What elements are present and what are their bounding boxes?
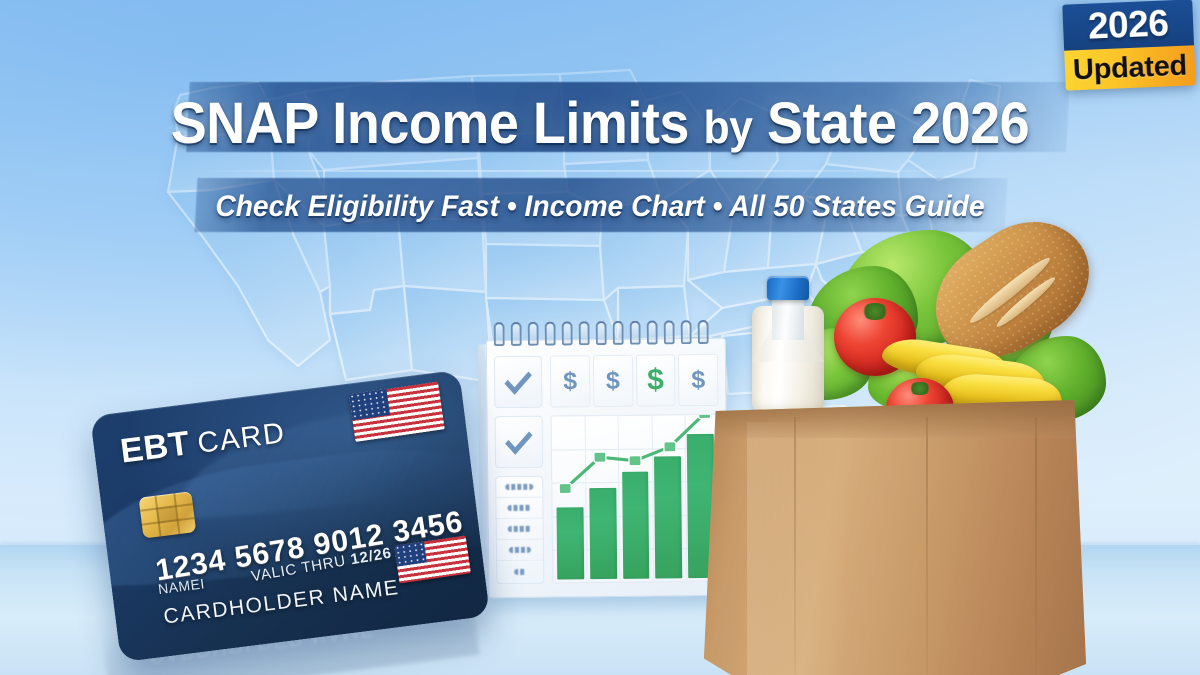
card-chip-icon [139,491,197,538]
list-item [496,498,542,519]
dollar-cell: $ [550,355,590,407]
checkbox-row-2[interactable] [495,416,544,468]
list-item [496,477,542,498]
check-mark-icon [504,364,531,395]
ebt-card[interactable]: EBTCARD 1234 5678 9012 3456 NAMEI VALIC … [90,370,490,663]
badge-year-label: 2026 [1087,2,1169,47]
dollar-cell: $ [593,355,633,407]
checkbox-row-1[interactable] [494,356,543,408]
paper-grocery-bag [700,400,1090,675]
page-title-by: by [703,101,752,153]
badge-status-label: Updated [1072,49,1187,87]
list-item [497,561,543,582]
banner-divider [196,170,986,172]
notepad-list-rows [495,476,544,584]
list-item [497,519,543,540]
dollar-cell-highlighted: $ [635,354,675,406]
page-title-part2: State 2026 [752,91,1029,156]
page-title-part1: SNAP Income Limits [171,91,704,156]
badge-year: 2026 [1062,0,1194,51]
poster-canvas: SNAP Income Limits by State 2026 Check E… [0,0,1200,675]
chart-trend-line [552,415,720,584]
page-subtitle: Check Eligibility Fast • Income Chart • … [36,190,1164,224]
card-brand-bold: EBT [118,424,192,470]
spiral-binding-icon [494,320,720,348]
page-title: SNAP Income Limits by State 2026 [42,92,1158,159]
checklist-column [494,356,543,476]
list-item [497,540,543,561]
bar-chart [551,414,721,584]
updated-badge: 2026 Updated [1062,0,1195,91]
badge-status: Updated [1064,45,1196,90]
check-mark-icon [505,424,532,455]
bottle-cap-icon [767,276,809,300]
grocery-produce-group [690,228,1100,418]
milk-bottle-icon [752,276,824,414]
